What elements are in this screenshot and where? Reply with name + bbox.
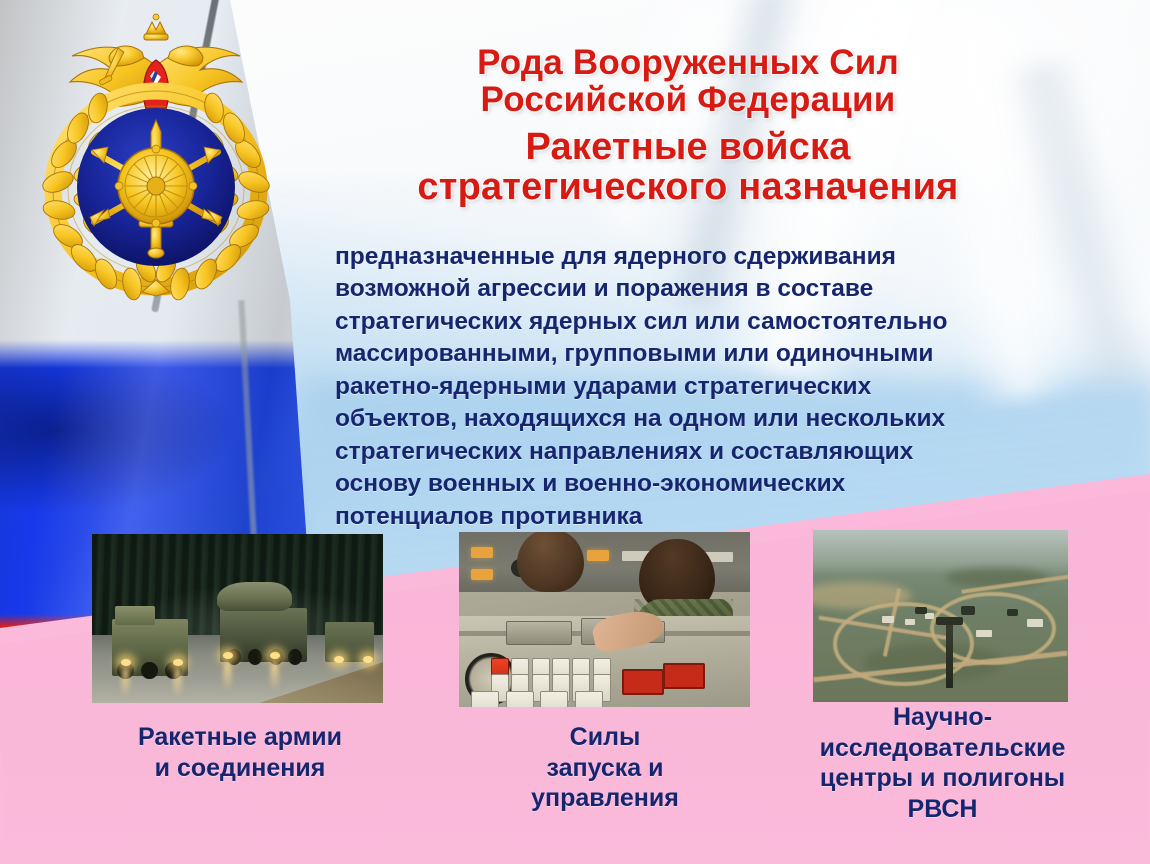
caption-line: Ракетные армии (55, 722, 425, 753)
headlight (363, 656, 373, 663)
launch-control-photo (459, 532, 750, 707)
console-key[interactable] (506, 691, 534, 707)
missile-convoy-photo (92, 534, 383, 703)
caption-line: Научно- (780, 702, 1105, 733)
missile-canister (217, 582, 292, 610)
launch-key-slot[interactable] (622, 669, 664, 695)
console-key[interactable] (540, 691, 568, 707)
indicator-lamp (471, 547, 493, 558)
road-reflection (223, 662, 232, 692)
range-structure (1007, 609, 1018, 616)
console-key[interactable] (575, 691, 603, 707)
body-line: стратегических ядерных сил или самостоят… (335, 306, 1125, 338)
caption-launch-control-forces: Силы запуска и управления (475, 722, 735, 814)
range-building (1027, 619, 1043, 627)
headlight (334, 656, 344, 663)
missile-transporter (220, 608, 307, 662)
escort-vehicle (112, 619, 188, 676)
caption-line: исследовательские (780, 733, 1105, 764)
caption-line: РВСН (780, 794, 1105, 825)
road-reflection (270, 662, 279, 692)
range-structure (961, 606, 975, 615)
console-module (506, 621, 572, 645)
range-structure (915, 607, 927, 614)
caption-missile-armies: Ракетные армии и соединения (55, 722, 425, 783)
caption-line: управления (475, 783, 735, 814)
caption-research-centers: Научно- исследовательские центры и полиг… (780, 702, 1105, 824)
headlight (270, 652, 280, 659)
photo-horizon-haze (813, 530, 1068, 575)
range-building (882, 616, 894, 623)
body-line: объектов, находящихся на одном или неско… (335, 403, 1125, 435)
title-line-1: Рода Вооруженных Сил (318, 44, 1058, 81)
body-line: потенциалов противника (335, 501, 1125, 533)
officer-head-left (517, 532, 584, 592)
range-building (925, 613, 934, 619)
slide-title: Рода Вооруженных Сил Российской Федераци… (318, 44, 1058, 208)
console-key[interactable] (471, 691, 499, 707)
caption-line: запуска и (475, 753, 735, 784)
body-line: стратегических направлениях и составляющ… (335, 436, 1125, 468)
launch-key-slot[interactable] (663, 663, 705, 689)
body-line: возможной агрессии и поражения в составе (335, 273, 1125, 305)
test-range-aerial-photo (813, 530, 1068, 702)
wheel (141, 662, 158, 679)
title-line-4: стратегического назначения (318, 167, 1058, 207)
title-line-3: Ракетные войска (318, 127, 1058, 167)
rvsn-emblem (42, 4, 270, 304)
body-line: основу военных и военно-экономических (335, 468, 1125, 500)
title-line-2: Российской Федерации (318, 81, 1058, 118)
caption-line: Силы (475, 722, 735, 753)
indicator-lamp (471, 569, 493, 580)
body-line: ракетно-ядерными ударами стратегических (335, 371, 1125, 403)
presentation-slide: Рода Вооруженных Сил Российской Федераци… (0, 0, 1150, 864)
vehicle-cab (115, 606, 154, 626)
range-building (976, 630, 992, 637)
caption-line: и соединения (55, 753, 425, 784)
indicator-lamp (587, 550, 609, 561)
caption-line: центры и полигоны (780, 763, 1105, 794)
range-building (905, 619, 915, 625)
body-line: предназначенные для ядерного сдерживания (335, 241, 1125, 273)
slide-body-text: предназначенные для ядерного сдерживания… (335, 241, 1125, 533)
launch-tower (946, 619, 953, 688)
body-line: массированными, групповыми или одиночным… (335, 338, 1125, 370)
